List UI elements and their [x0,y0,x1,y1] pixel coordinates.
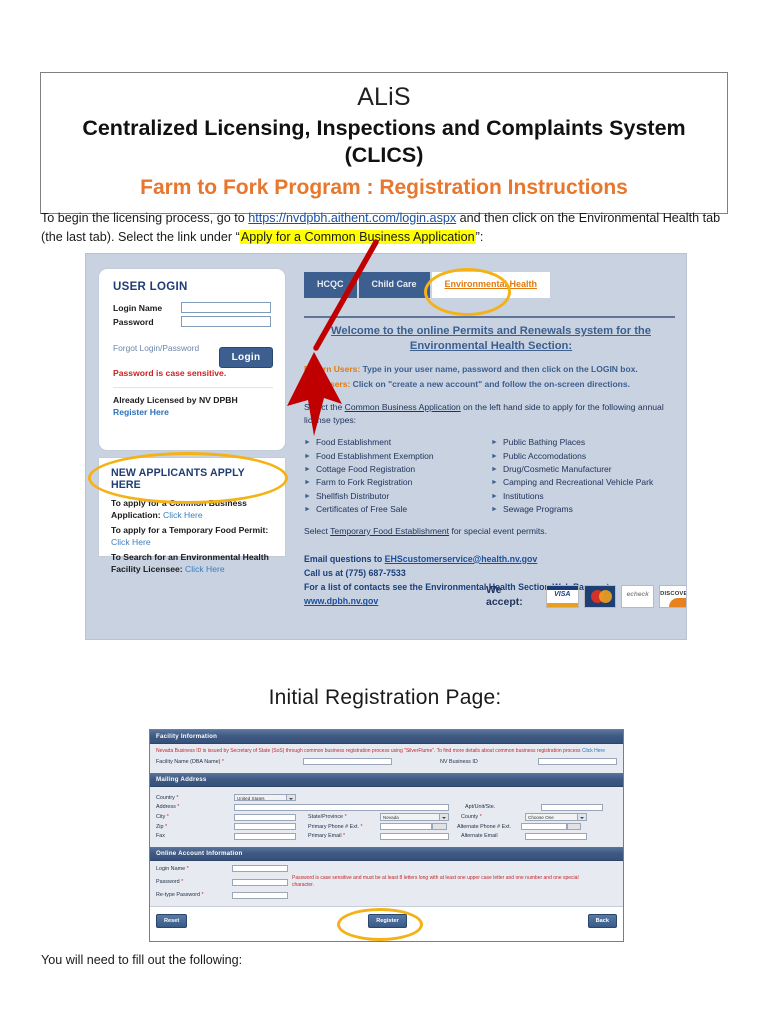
new-applicant-item-temp: To apply for a Temporary Food Permit: Cl… [111,525,275,548]
section-body-facility-information: Nevada Business ID is issued by Secretar… [150,744,623,773]
discover-card-icon: DISCOVER [659,585,687,608]
address-label-text: Address [156,804,176,810]
temp-pre: Select [304,526,330,536]
required-marker: * [165,824,167,830]
license-type-label: Farm to Fork Registration [316,476,412,489]
program-subtitle: Farm to Fork Program : Registration Inst… [47,174,721,201]
required-marker: * [480,814,482,820]
intro-text-1: To begin the licensing process, go to [41,211,248,225]
login-url-link[interactable]: https://nvdpbh.aithent.com/login.aspx [248,211,456,225]
alternate-phone-input[interactable] [521,823,567,830]
bullet-icon: ► [491,463,498,476]
nv-note-click-here-link[interactable]: Click Here [582,748,605,754]
section-body-online-account-information: Login Name * Password * Password is case… [150,861,623,906]
required-marker: * [222,759,224,765]
welcome-line-2: Environmental Health Section: [410,340,572,352]
reset-button[interactable]: Reset [156,914,187,928]
register-here-link[interactable]: Register Here [113,407,169,417]
discover-label: DISCOVER [660,591,687,597]
echeck-label: echeck [622,591,653,598]
nv-business-id-label: NV Business ID [392,759,538,765]
temporary-food-establishment-link[interactable]: Temporary Food Establishment [330,526,449,536]
address-input[interactable] [234,804,449,811]
account-password-row: Password * Password is case sensitive an… [156,875,617,890]
website-link[interactable]: www.dpbh.nv.gov [304,596,378,606]
account-login-name-label: Login Name * [156,866,232,872]
temp-text: To apply for a Temporary Food Permit: [111,525,268,535]
initial-registration-page-heading: Initial Registration Page: [0,686,770,710]
city-label-text: City [156,814,165,820]
return-users-text: Type in your user name, password and the… [360,364,638,374]
primary-phone-ext-input[interactable] [432,823,447,830]
zip-label: Zip * [156,824,234,830]
bullet-icon: ► [491,436,498,449]
retype-password-input[interactable] [232,892,288,899]
state-province-label-text: State/Province [308,814,343,820]
callout-ellipse-new-applicants [88,452,288,504]
login-name-label: Login Name [113,303,181,313]
app-name: ALiS [47,83,721,113]
password-label: Password [113,317,181,327]
bullet-icon: ► [491,476,498,489]
city-row: City * State/Province * Nevada County * … [156,813,617,821]
visa-label: VISA [547,591,578,598]
primary-phone-input[interactable] [380,823,432,830]
apt-unit-ste-input[interactable] [541,804,603,811]
county-select[interactable]: Choose One [525,813,587,821]
required-marker: * [167,814,169,820]
fax-row: Fax Primary Email * Alternate Email [156,833,617,840]
county-label-text: County [461,814,478,820]
bullet-icon: ► [491,450,498,463]
callout-ellipse-register-button [337,908,423,941]
chevron-down-icon [286,795,295,801]
state-province-label: State/Province * [296,814,380,820]
license-type-label: Camping and Recreational Vehicle Park [503,476,653,489]
primary-phone-label-text: Primary Phone # [308,824,348,830]
city-label: City * [156,814,234,820]
new-applicant-item-search: To Search for an Environmental Health Fa… [111,552,275,575]
new-users-text: Click on "create a new account" and foll… [350,379,630,389]
state-province-value: Nevada [383,815,399,820]
city-input[interactable] [234,814,296,821]
retype-password-label-text: Re-type Password [156,892,200,898]
county-label: County * [449,814,525,820]
document-page: ALiS Centralized Licensing, Inspections … [0,0,770,1024]
support-email-link[interactable]: EHScustomerservice@health.nv.gov [385,554,538,564]
country-row: Country * United States [156,794,617,802]
facility-name-input[interactable] [303,758,392,765]
nv-note-text: Nevada Business ID is issued by Secretar… [156,748,582,754]
required-marker: * [343,833,345,839]
section-body-mailing-address: Country * United States Address * Apt/Un… [150,787,623,848]
alternate-phone-ext-label: Ext. [502,824,511,830]
list-item: ►Sewage Programs [491,503,678,516]
country-select[interactable]: United States [234,794,296,802]
search-click-here-link[interactable]: Click Here [185,564,225,574]
phone-line: Call us at (775) 687-7533 [304,568,406,578]
country-label: Country * [156,795,234,801]
visa-card-icon: VISA [546,585,579,608]
document-title-box: ALiS Centralized Licensing, Inspections … [40,72,728,214]
alternate-phone-label: Alternate Phone # Ext. [447,824,521,830]
facility-name-row: Facility Name (DBA Name) * NV Business I… [156,758,617,765]
password-hint: Password is case sensitive and must be a… [292,875,592,890]
required-marker: * [176,795,178,801]
license-types-right-column: ►Public Bathing Places ►Public Accomodat… [491,436,678,517]
license-type-label: Institutions [503,490,544,503]
we-accept-block: We accept: VISA echeck DISCOVER [486,584,687,608]
alternate-email-label: Alternate Email [449,833,525,839]
account-login-name-label-text: Login Name [156,866,185,872]
list-item: ►Farm to Fork Registration [304,476,491,489]
bullet-icon: ► [304,463,311,476]
section-header-mailing-address: Mailing Address [150,773,623,787]
cba-click-here-link[interactable]: Click Here [163,510,203,520]
license-type-label: Public Accomodations [503,450,586,463]
intro-text-3: ”: [476,230,484,244]
primary-phone-label: Primary Phone # Ext. * [296,824,380,830]
bullet-icon: ► [304,490,311,503]
primary-email-label-text: Primary Email [308,833,342,839]
bullet-icon: ► [491,490,498,503]
license-type-label: Cottage Food Registration [316,463,415,476]
forgot-login-password-link[interactable]: Forgot Login/Password [113,343,199,353]
retype-password-label: Re-type Password * [156,892,232,898]
facility-name-label-text: Facility Name (DBA Name) [156,759,220,765]
chevron-down-icon [577,814,586,820]
zip-label-text: Zip [156,824,164,830]
closing-instruction-text: You will need to fill out the following: [41,953,242,967]
primary-email-label: Primary Email * [296,833,380,839]
section-header-facility-information: Facility Information [150,730,623,744]
address-label: Address * [156,804,234,810]
apt-unit-ste-label: Apt/Unit/Ste. [449,804,541,810]
callout-ellipse-environmental-health-tab [424,268,511,316]
country-value: United States [237,796,265,801]
required-marker: * [345,814,347,820]
back-button[interactable]: Back [588,914,617,928]
license-type-label: Sewage Programs [503,503,573,516]
account-password-label-text: Password [156,879,180,885]
temp-click-here-link[interactable]: Click Here [111,537,151,547]
list-item: ►Public Bathing Places [491,436,678,449]
nv-business-id-input[interactable] [538,758,617,765]
zip-input[interactable] [234,823,296,830]
facility-name-label: Facility Name (DBA Name) * [156,759,303,765]
bullet-icon: ► [304,476,311,489]
echeck-card-icon: echeck [621,585,654,608]
temporary-food-paragraph: Select Temporary Food Establishment for … [304,526,678,536]
mastercard-card-icon [584,585,617,608]
chevron-down-icon [439,814,448,820]
system-name: Centralized Licensing, Inspections and C… [47,115,721,170]
fax-input[interactable] [234,833,296,840]
required-marker: * [187,866,189,872]
section-header-online-account-information: Online Account Information [150,847,623,861]
bullet-icon: ► [491,503,498,516]
required-marker: * [360,824,362,830]
address-row: Address * Apt/Unit/Ste. [156,804,617,811]
nevada-business-id-note: Nevada Business ID is issued by Secretar… [156,748,617,755]
license-type-label: Certificates of Free Sale [316,503,407,516]
required-marker: * [202,892,204,898]
zip-row: Zip * Primary Phone # Ext. * Alternate P… [156,823,617,830]
list-item: ►Institutions [491,490,678,503]
fax-label: Fax [156,833,234,839]
we-accept-label: We accept: [486,584,536,608]
list-item: ►Public Accomodations [491,450,678,463]
license-type-label: Shellfish Distributor [316,490,389,503]
account-retype-password-row: Re-type Password * [156,892,617,899]
license-type-label: Public Bathing Places [503,436,585,449]
bullet-icon: ► [304,503,311,516]
alternate-phone-ext-input[interactable] [567,823,581,830]
county-value: Choose One [528,815,554,820]
required-marker: * [181,879,183,885]
country-label-text: Country [156,795,175,801]
account-password-label: Password * [156,879,232,885]
alternate-email-input[interactable] [525,833,587,840]
login-name-row: Login Name * [156,865,617,872]
license-type-label: Drug/Cosmetic Manufacturer [503,463,612,476]
account-password-input[interactable] [232,879,288,886]
list-item: ►Shellfish Distributor [304,490,491,503]
required-marker: * [177,804,179,810]
primary-phone-ext-label: Ext. [350,824,359,830]
temp-post: for special event permits. [449,526,547,536]
list-item: ►Drug/Cosmetic Manufacturer [491,463,678,476]
state-province-select[interactable]: Nevada [380,813,449,821]
list-item: ►Camping and Recreational Vehicle Park [491,476,678,489]
callout-arrow-red [190,236,390,456]
primary-email-input[interactable] [380,833,449,840]
email-pre: Email questions to [304,554,385,564]
account-login-name-input[interactable] [232,865,288,872]
list-item: ►Certificates of Free Sale [304,503,491,516]
list-item: ►Cottage Food Registration [304,463,491,476]
alternate-phone-label-text: Alternate Phone # [457,824,500,830]
